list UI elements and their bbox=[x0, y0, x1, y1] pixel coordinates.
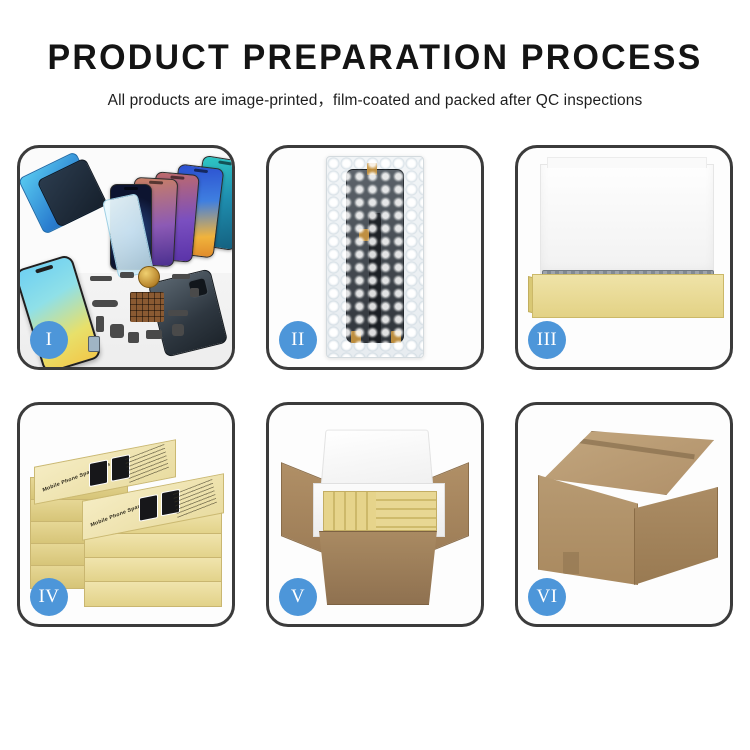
step-badge-4: IV bbox=[30, 578, 68, 616]
blue-lcd-assembly-icon bbox=[20, 151, 102, 235]
spare-components-group bbox=[86, 266, 216, 362]
ic-chip-array-icon bbox=[130, 292, 164, 322]
white-foam-lid bbox=[540, 164, 714, 278]
page-subtitle: All products are image-printed，film-coat… bbox=[0, 88, 750, 110]
step-badge-5: V bbox=[279, 578, 317, 616]
page-title: PRODUCT PREPARATION PROCESS bbox=[11, 40, 739, 75]
carton-side-face bbox=[634, 487, 718, 585]
step-panel-3[interactable]: III bbox=[515, 145, 733, 370]
step-panel-5[interactable]: V bbox=[266, 402, 484, 627]
step-badge-1: I bbox=[30, 321, 68, 359]
step-badge-2: II bbox=[279, 321, 317, 359]
step-panel-2[interactable]: II bbox=[266, 145, 484, 370]
yellow-boxes-inside bbox=[323, 491, 437, 531]
sealed-carton bbox=[538, 431, 718, 589]
carton-tape-upper bbox=[563, 552, 579, 574]
carton-seam bbox=[575, 438, 695, 460]
step-badge-6: VI bbox=[528, 578, 566, 616]
page-header: PRODUCT PREPARATION PROCESS All products… bbox=[0, 0, 750, 110]
carton-tape-lower bbox=[565, 602, 581, 622]
step-panel-4[interactable]: Mobile Phone Spare Parts Mobile Phone Sp… bbox=[17, 402, 235, 627]
carton-body bbox=[311, 531, 445, 605]
step-badge-3: III bbox=[528, 321, 566, 359]
bubble-wrap-bag bbox=[326, 156, 424, 358]
carton-front-face bbox=[538, 475, 638, 585]
yellow-box-base bbox=[532, 274, 724, 318]
step-panel-1[interactable]: I bbox=[17, 145, 235, 370]
bubble-texture-overlay bbox=[327, 157, 423, 357]
step-panel-6[interactable]: VI bbox=[515, 402, 733, 627]
phone-display-lineup bbox=[100, 156, 232, 266]
process-steps-grid: I II III bbox=[17, 145, 733, 627]
speaker-coil-icon bbox=[138, 266, 160, 288]
